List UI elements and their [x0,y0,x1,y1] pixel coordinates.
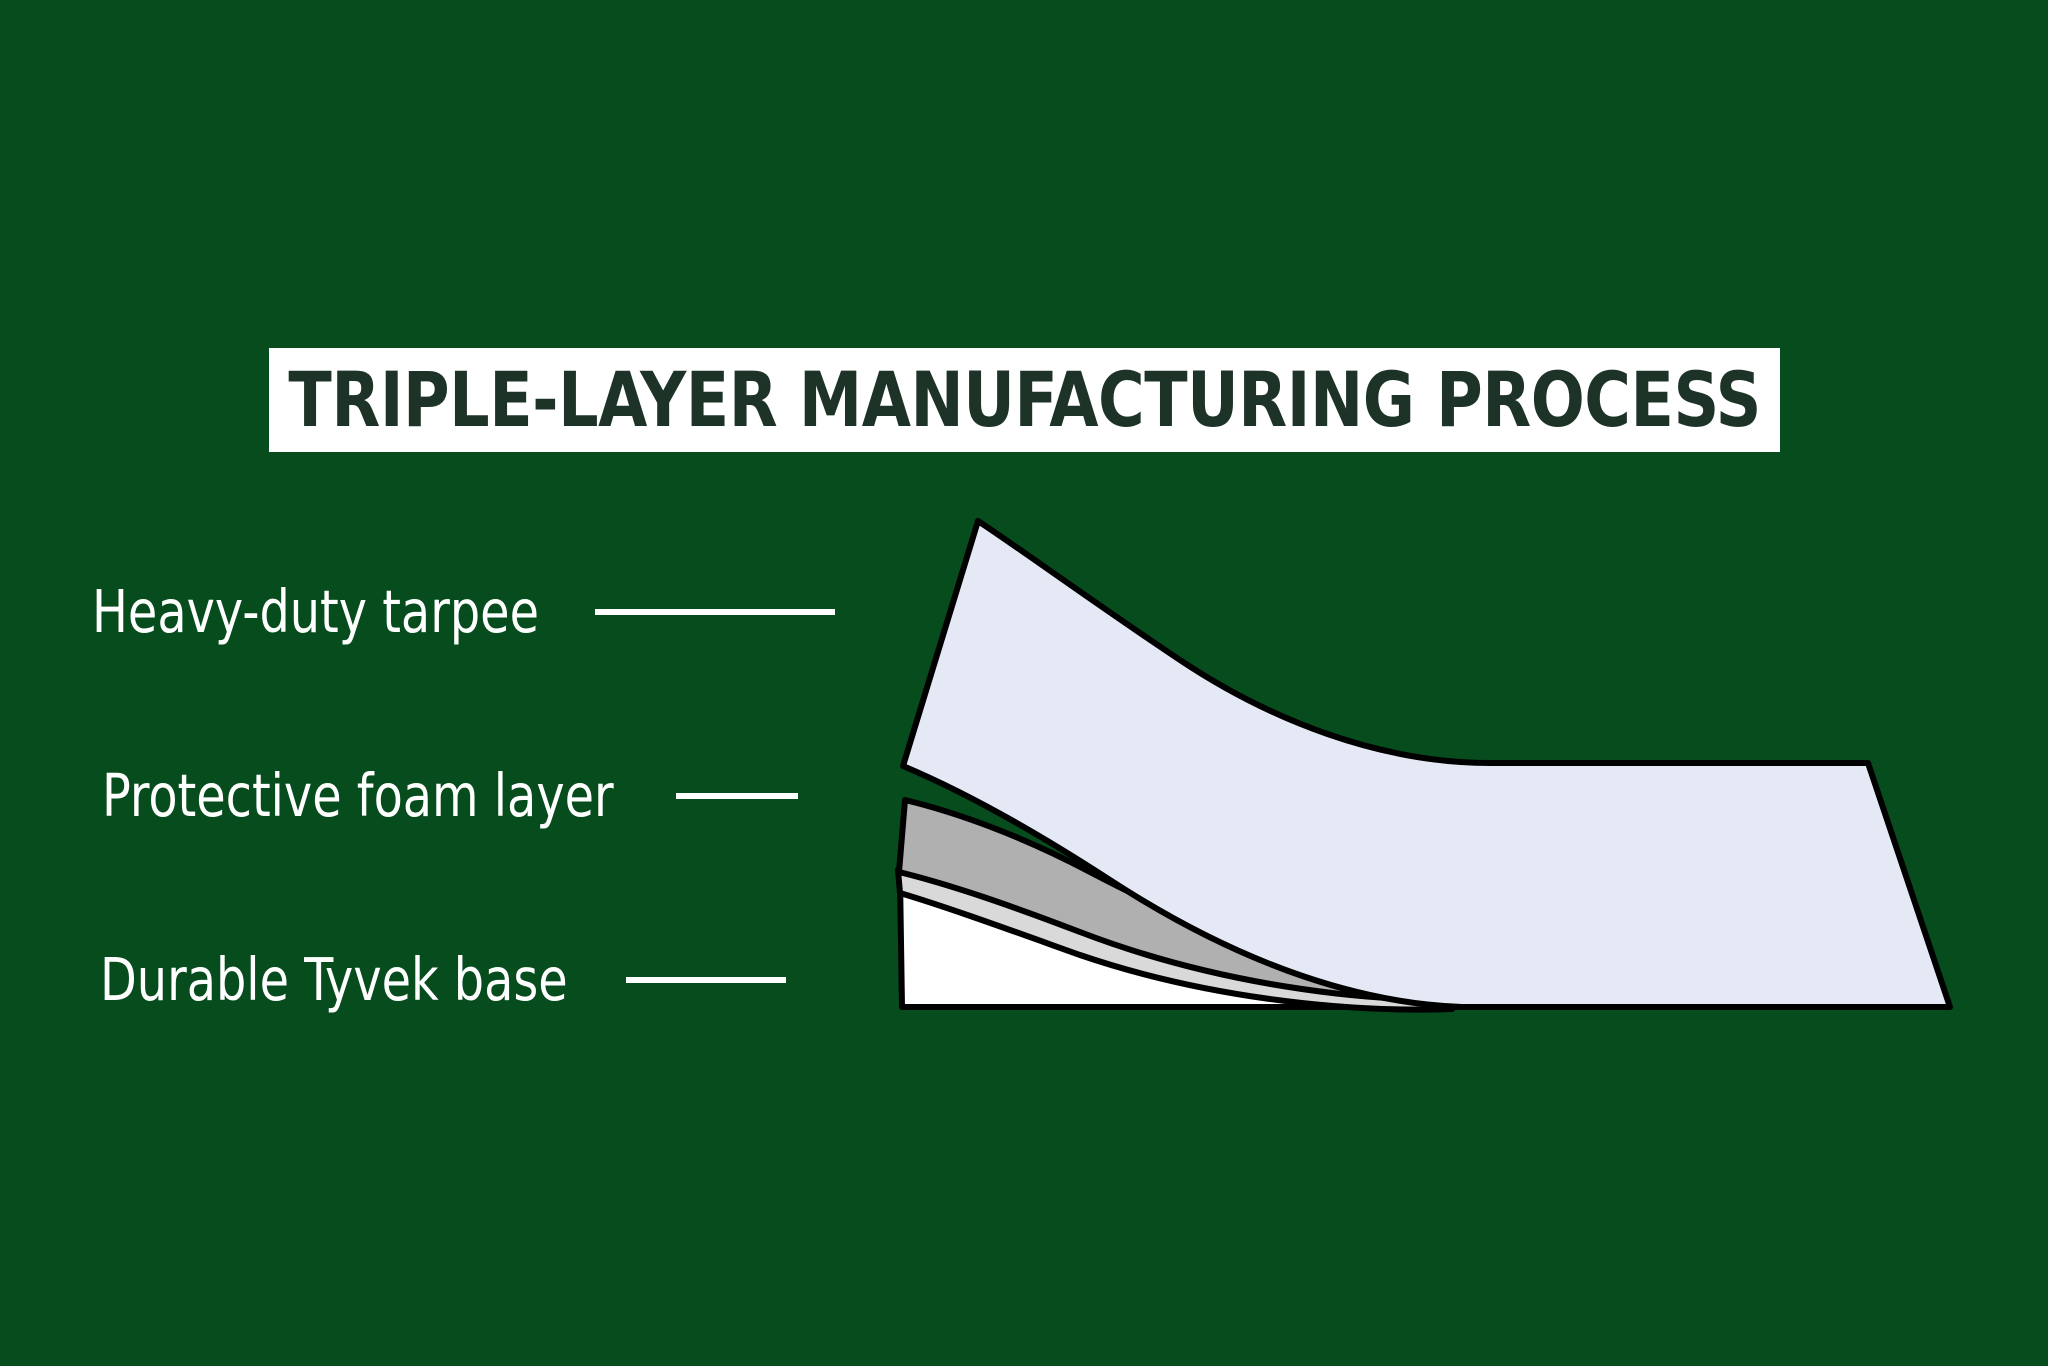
leader-line-icon [626,977,786,983]
page-title: TRIPLE-LAYER MANUFACTURING PROCESS [288,362,1761,438]
callout-heavy-duty-tarpee: Heavy-duty tarpee [92,582,835,641]
callout-durable-tyvek-base: Durable Tyvek base [100,950,786,1009]
callout-label-protective-foam-layer: Protective foam layer [102,766,614,825]
callout-label-heavy-duty-tarpee: Heavy-duty tarpee [92,582,539,641]
diagram-canvas: TRIPLE-LAYER MANUFACTURING PROCESS Heavy… [0,0,2048,1366]
triple-layer-illustration [0,0,2048,1366]
page-title-box: TRIPLE-LAYER MANUFACTURING PROCESS [269,348,1780,452]
leader-line-icon [595,609,835,615]
leader-line-icon [676,793,798,799]
callout-label-durable-tyvek-base: Durable Tyvek base [100,950,568,1009]
callout-protective-foam-layer: Protective foam layer [102,766,798,825]
